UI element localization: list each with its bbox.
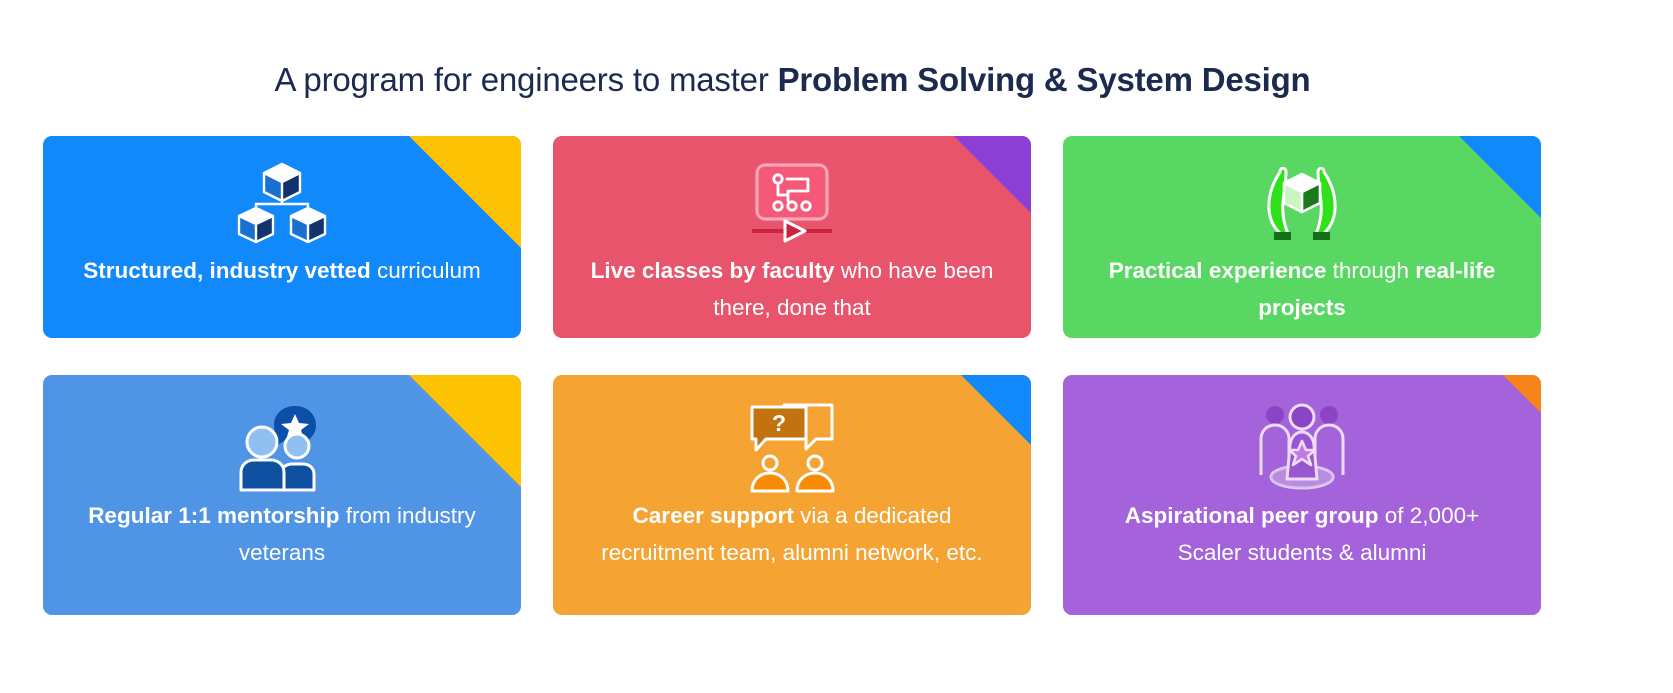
hierarchy-cubes-icon	[236, 158, 328, 250]
card-label-bold: Career support	[633, 503, 801, 528]
page-title: A program for engineers to master Proble…	[0, 56, 1585, 104]
peer-group-star-icon	[1253, 399, 1351, 495]
card-label-bold: Live classes by faculty	[591, 258, 841, 283]
card-label: Live classes by faculty who have been th…	[582, 252, 1003, 326]
card-label: Practical experience through real-life p…	[1092, 252, 1513, 326]
chat-bubbles-question-people-icon: ?	[744, 399, 840, 495]
cards-row-2: Regular 1:1 mentorship from industry vet…	[43, 375, 1673, 615]
cards-grid: Structured, industry vetted curriculum	[43, 136, 1673, 615]
card-mentorship[interactable]: Regular 1:1 mentorship from industry vet…	[43, 375, 521, 615]
card-label-bold: Aspirational peer group	[1125, 503, 1385, 528]
svg-text:?: ?	[772, 410, 786, 436]
card-label: Regular 1:1 mentorship from industry vet…	[72, 497, 493, 571]
card-peer-group[interactable]: Aspirational peer group of 2,000+ Scaler…	[1063, 375, 1541, 615]
card-live-classes[interactable]: Live classes by faculty who have been th…	[553, 136, 1031, 338]
card-label-bold: Structured, industry vetted	[83, 258, 377, 283]
card-label: Career support via a dedicated recruitme…	[582, 497, 1003, 571]
card-practical-experience[interactable]: Practical experience through real-life p…	[1063, 136, 1541, 338]
card-label-bold: Practical experience	[1109, 258, 1333, 283]
hands-holding-cube-icon	[1250, 158, 1354, 250]
card-structured-curriculum[interactable]: Structured, industry vetted curriculum	[43, 136, 521, 338]
page-title-light: A program for engineers to master	[274, 61, 777, 98]
card-label-bold: Regular 1:1 mentorship	[88, 503, 346, 528]
feature-cards-section: A program for engineers to master Proble…	[0, 0, 1673, 693]
two-people-star-badge-icon	[233, 399, 331, 495]
card-label: Aspirational peer group of 2,000+ Scaler…	[1092, 497, 1513, 571]
card-label: Structured, industry vetted curriculum	[72, 252, 493, 289]
card-career-support[interactable]: ? Career support via a dedicated recruit…	[553, 375, 1031, 615]
presentation-screen-play-icon	[742, 158, 842, 250]
card-label-rest: curriculum	[377, 258, 481, 283]
cards-row-1: Structured, industry vetted curriculum	[43, 136, 1673, 338]
page-title-bold: Problem Solving & System Design	[778, 61, 1311, 98]
card-label-rest: through	[1333, 258, 1416, 283]
